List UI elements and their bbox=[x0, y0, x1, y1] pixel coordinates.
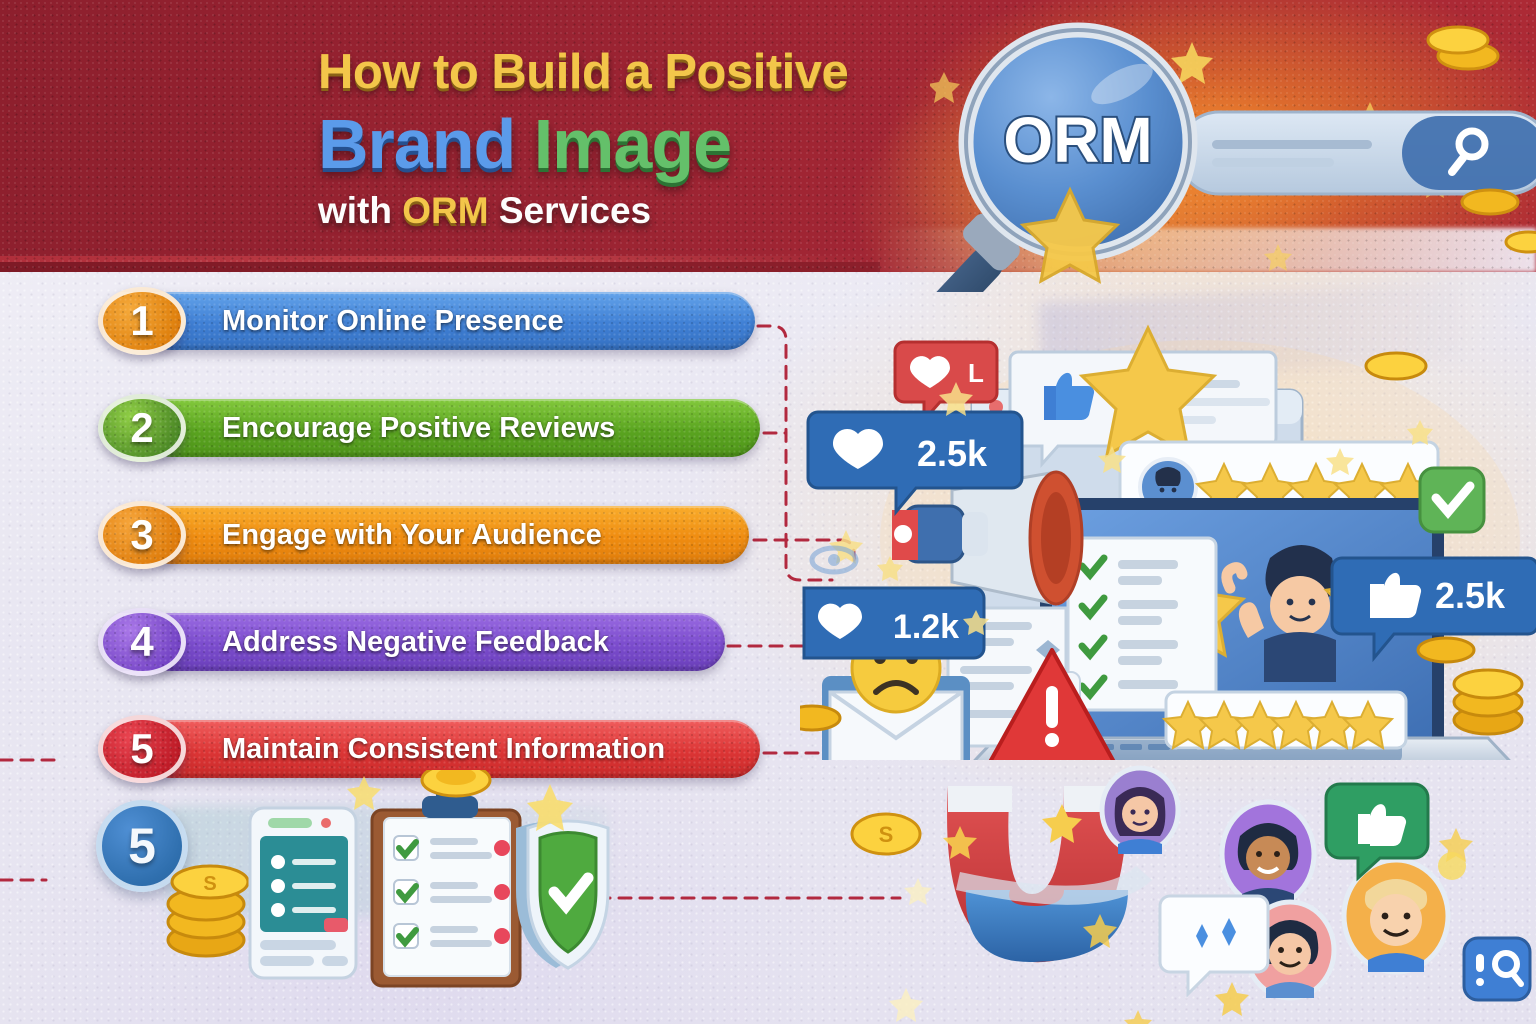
hero-illustration: ORM bbox=[930, 12, 1536, 292]
search-bubble-icon bbox=[1464, 938, 1530, 1000]
svg-text:1.2k: 1.2k bbox=[893, 608, 959, 646]
svg-text:S: S bbox=[203, 873, 216, 895]
step-number: 2 bbox=[98, 394, 186, 462]
title-line-1: How to Build a Positive bbox=[318, 44, 1018, 100]
coin-stack-icon: S bbox=[168, 866, 248, 956]
step-number: 3 bbox=[98, 501, 186, 569]
svg-text:2.5k: 2.5k bbox=[1435, 575, 1506, 616]
magnifier-label: ORM bbox=[1003, 104, 1152, 176]
chat-bubble-icon bbox=[1160, 896, 1268, 994]
dot-decor bbox=[1438, 852, 1466, 880]
title-services-word: Services bbox=[489, 190, 652, 231]
laptop-illustration: L 2.5k 1.2k 2.5k bbox=[800, 320, 1536, 760]
step-label: Encourage Positive Reviews bbox=[222, 399, 615, 457]
avatar bbox=[1102, 768, 1178, 854]
infographic-canvas: WebCoir IT Solutions How to Build a Posi… bbox=[0, 0, 1536, 1024]
step-number: 1 bbox=[98, 287, 186, 355]
documents-illustration: S bbox=[150, 770, 620, 990]
checklist-panel bbox=[1068, 538, 1216, 710]
phone-icon bbox=[250, 808, 356, 978]
title-image-word: Image bbox=[534, 105, 731, 183]
title-orm-word: ORM bbox=[402, 190, 488, 231]
svg-text:2.5k: 2.5k bbox=[917, 433, 988, 474]
star-strip bbox=[1164, 692, 1406, 748]
shield-check-icon bbox=[516, 821, 608, 968]
header-stripe bbox=[0, 256, 880, 262]
step-number: 4 bbox=[98, 608, 186, 676]
coin-icon: S bbox=[852, 814, 920, 854]
magnet-illustration: S bbox=[840, 748, 1536, 1024]
title-line-2: Brand Image bbox=[318, 104, 1018, 184]
clipboard-icon bbox=[372, 788, 520, 986]
step-label: Engage with Your Audience bbox=[222, 506, 602, 564]
step-label: Address Negative Feedback bbox=[222, 613, 609, 671]
search-bar-art bbox=[1178, 112, 1536, 194]
svg-text:L: L bbox=[968, 358, 984, 388]
badge-heart-1.2k: 1.2k bbox=[804, 588, 984, 658]
coin-icon bbox=[422, 770, 490, 796]
svg-text:S: S bbox=[879, 822, 894, 847]
magnifier-icon: ORM bbox=[930, 30, 1190, 292]
title-with-word: with bbox=[318, 190, 402, 231]
title-brand-word: Brand bbox=[318, 105, 515, 183]
check-badge-icon bbox=[1420, 468, 1484, 532]
step-label: Monitor Online Presence bbox=[222, 292, 564, 350]
header-bottom-edge bbox=[0, 262, 880, 272]
page-title: How to Build a Positive Brand Image with… bbox=[318, 44, 1018, 232]
avatar bbox=[1222, 802, 1314, 906]
title-line-3: with ORM Services bbox=[318, 190, 1018, 232]
